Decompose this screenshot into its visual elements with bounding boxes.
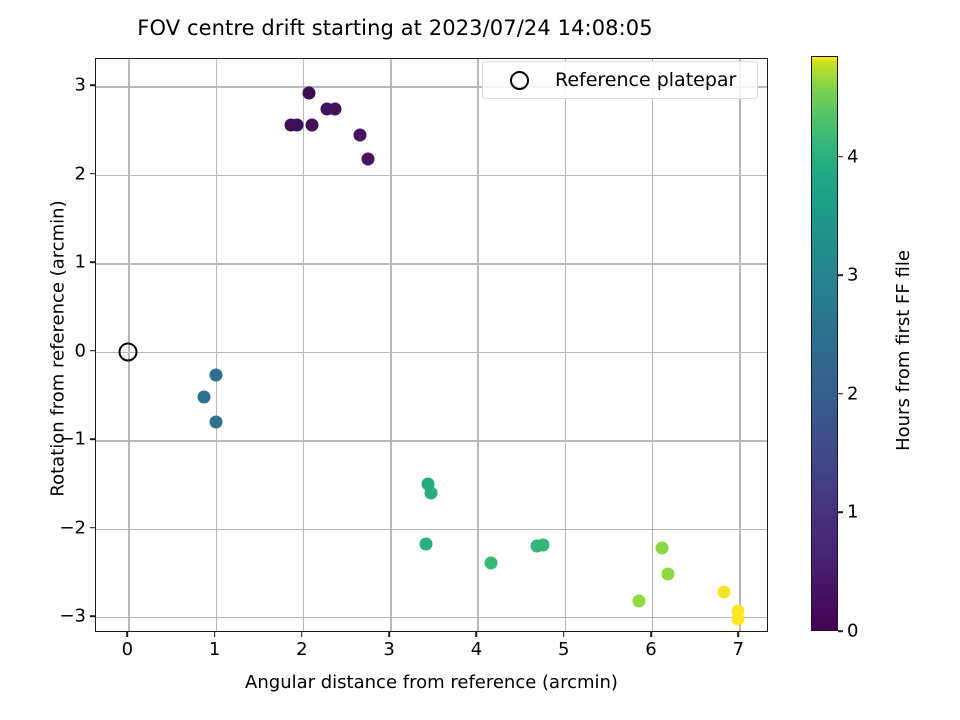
y-axis-tick	[90, 262, 95, 264]
x-axis-tick-label: 6	[645, 639, 656, 660]
colorbar-tick	[838, 393, 843, 395]
y-axis-tick-label: 0	[75, 340, 86, 361]
scatter-point	[718, 586, 731, 599]
x-axis-tick-label: 1	[209, 639, 220, 660]
scatter-point	[655, 542, 668, 555]
y-axis-tick	[90, 173, 95, 175]
scatter-point	[632, 595, 645, 608]
reference-platepar-marker	[119, 342, 138, 361]
y-axis-tick-label: 1	[75, 252, 86, 273]
colorbar-tick	[838, 630, 843, 632]
colorbar-tick	[838, 156, 843, 158]
scatter-point	[209, 415, 222, 428]
x-axis-tick-label: 5	[558, 639, 569, 660]
scatter-point	[290, 119, 303, 132]
y-axis-label: Rotation from reference (arcmin)	[48, 59, 69, 639]
scatter-points	[96, 59, 767, 631]
plot-area	[95, 58, 768, 632]
x-axis-tick	[301, 632, 303, 637]
colorbar-tick-label: 4	[847, 146, 858, 167]
colorbar-tick-label: 3	[847, 265, 858, 286]
legend-item-label: Reference platepar	[555, 69, 736, 91]
y-axis-tick-label: 2	[75, 163, 86, 184]
scatter-point	[536, 538, 549, 551]
scatter-point	[661, 567, 674, 580]
scatter-point	[425, 487, 438, 500]
colorbar	[811, 56, 838, 631]
y-axis-tick	[90, 438, 95, 440]
x-axis-tick-label: 0	[122, 639, 133, 660]
y-axis-tick-label: 3	[75, 75, 86, 96]
scatter-point	[329, 103, 342, 116]
colorbar-label: Hours from first FF file	[893, 63, 914, 638]
x-axis-tick-label: 7	[733, 639, 744, 660]
scatter-point	[209, 368, 222, 381]
x-axis-tick	[563, 632, 565, 637]
y-axis-tick	[90, 85, 95, 87]
legend-marker-wrap	[483, 71, 555, 90]
x-axis-tick	[388, 632, 390, 637]
colorbar-tick-label: 0	[847, 621, 858, 642]
scatter-point	[485, 557, 498, 570]
y-axis-tick	[90, 615, 95, 617]
x-axis-tick	[650, 632, 652, 637]
x-axis-tick	[214, 632, 216, 637]
scatter-point	[198, 390, 211, 403]
x-axis-tick	[476, 632, 478, 637]
scatter-point	[362, 152, 375, 165]
colorbar-gradient	[811, 56, 838, 631]
colorbar-tick	[838, 512, 843, 514]
scatter-point	[419, 537, 432, 550]
x-axis-tick-label: 2	[296, 639, 307, 660]
legend: Reference platepar	[482, 61, 758, 99]
x-axis-tick-label: 4	[471, 639, 482, 660]
x-axis-tick-label: 3	[383, 639, 394, 660]
x-axis-tick	[738, 632, 740, 637]
colorbar-tick-label: 2	[847, 383, 858, 404]
colorbar-tick-label: 1	[847, 502, 858, 523]
figure-canvas: FOV centre drift starting at 2023/07/24 …	[0, 0, 960, 720]
scatter-point	[354, 129, 367, 142]
page-title: FOV centre drift starting at 2023/07/24 …	[0, 16, 790, 40]
scatter-point	[305, 119, 318, 132]
colorbar-tick	[838, 275, 843, 277]
y-axis-tick	[90, 350, 95, 352]
x-axis-label: Angular distance from reference (arcmin)	[95, 672, 768, 693]
y-axis-tick	[90, 527, 95, 529]
scatter-point	[302, 86, 315, 99]
scatter-point	[731, 612, 744, 625]
reference-platepar-circle-icon	[510, 71, 529, 90]
x-axis-tick	[127, 632, 129, 637]
